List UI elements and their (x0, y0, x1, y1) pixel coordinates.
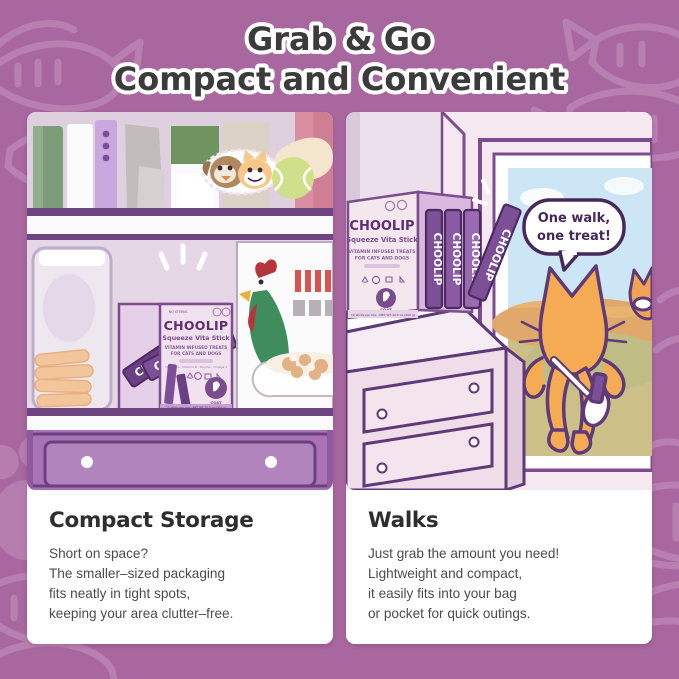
stick-label: CHOOLIP (431, 233, 443, 286)
speech-line-1: One walk, (538, 211, 610, 226)
illustration-entryway: One walk, one treat! (346, 112, 652, 490)
panel-compact-storage: CHOOLIP CHOOLIP CHOOLIP (27, 112, 333, 644)
svg-text:VITAMIN INFUSED TREATS: VITAMIN INFUSED TREATS (348, 249, 415, 255)
stick-label: CHOOLIP (450, 233, 462, 286)
drawer-knob (378, 410, 387, 419)
drawer-knob (470, 438, 479, 447)
svg-text:12 sticks per box · NET WT 10.: 12 sticks per box · NET WT 10.5 oz (300 … (351, 313, 415, 317)
panel-walks: One walk, one treat! (346, 112, 652, 644)
panel-container: CHOOLIP CHOOLIP CHOOLIP (27, 112, 652, 644)
tennis-ball-icon (272, 157, 314, 199)
drawer-knob (265, 456, 277, 468)
product-brand: CHOOLIP (349, 219, 414, 234)
svg-text:VITAMIN INFUSED TREATS: VITAMIN INFUSED TREATS (165, 345, 228, 351)
page-title: Grab & Go Compact and Convenient (0, 18, 679, 115)
svg-text:FOR CATS AND DOGS: FOR CATS AND DOGS (171, 351, 222, 357)
title-text: Grab & Go Compact and Convenient (0, 18, 679, 110)
drawer-knob (470, 384, 479, 393)
title-line-2: Compact and Convenient (114, 60, 565, 98)
caption-title: Walks (368, 508, 632, 533)
product-subtitle: Squeeze Vita Stick (346, 236, 418, 244)
drawer-knob (81, 456, 93, 468)
caption-body: Short on space? The smaller–sized packag… (49, 544, 313, 623)
caption-title: Compact Storage (49, 508, 313, 533)
title-line-1: Grab & Go (247, 20, 432, 58)
choolip-box: NO STERNS CHOOLIP Squeeze Vita Stick VIT… (160, 304, 232, 410)
product-subtitle: Squeeze Vita Stick (162, 334, 230, 342)
illustration-pantry-shelf: CHOOLIP CHOOLIP CHOOLIP (27, 112, 333, 490)
drawer-knob (378, 464, 387, 473)
svg-text:NO STERNS: NO STERNS (169, 310, 188, 314)
caption-compact-storage: Compact Storage Short on space? The smal… (27, 490, 333, 644)
treat-jar (33, 248, 111, 410)
caption-body: Just grab the amount you need! Lightweig… (368, 544, 632, 623)
cereal-box (237, 242, 333, 410)
caption-walks: Walks Just grab the amount you need! Lig… (346, 490, 652, 644)
svg-text:FOR CATS AND DOGS: FOR CATS AND DOGS (355, 256, 409, 262)
pet-sticker (203, 150, 279, 194)
speech-line-2: one treat! (537, 229, 611, 244)
product-brand: CHOOLIP (164, 318, 229, 333)
